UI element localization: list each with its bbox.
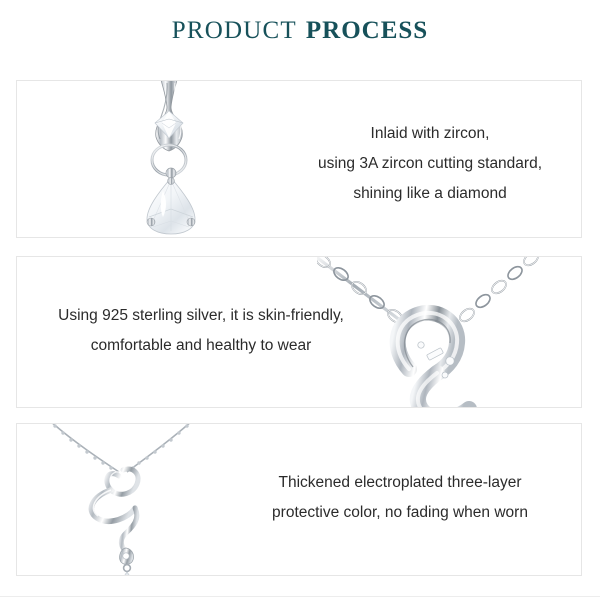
feature-panel-sterling-silver: Using 925 sterling silver, it is skin-fr… xyxy=(16,256,582,408)
footer-divider xyxy=(0,596,600,597)
panel-3-copy-line-2: protective color, no fading when worn xyxy=(225,498,575,528)
panel-1-copy: Inlaid with zircon, using 3A zircon cutt… xyxy=(285,119,575,209)
panel-1-copy-line-2: using 3A zircon cutting standard, xyxy=(285,149,575,179)
product-process-page: PRODUCTPROCESS xyxy=(0,0,600,600)
snake-pendant-closeup-image xyxy=(317,257,581,407)
page-title-text: PRODUCTPROCESS xyxy=(172,17,428,44)
full-necklace-image xyxy=(41,424,231,575)
pendant-zircon-closeup-image xyxy=(63,81,271,237)
panel-3-copy-line-1: Thickened electroplated three-layer xyxy=(225,468,575,498)
feature-panel-zircon: Inlaid with zircon, using 3A zircon cutt… xyxy=(16,80,582,238)
page-title-part-1: PRODUCT xyxy=(172,17,297,44)
page-title: PRODUCTPROCESS xyxy=(0,18,600,43)
panel-3-copy: Thickened electroplated three-layer prot… xyxy=(225,468,575,528)
panel-1-copy-line-1: Inlaid with zircon, xyxy=(285,119,575,149)
panel-1-copy-line-3: shining like a diamond xyxy=(285,179,575,209)
feature-panel-electroplating: Thickened electroplated three-layer prot… xyxy=(16,423,582,576)
page-title-part-2: PROCESS xyxy=(306,17,428,44)
